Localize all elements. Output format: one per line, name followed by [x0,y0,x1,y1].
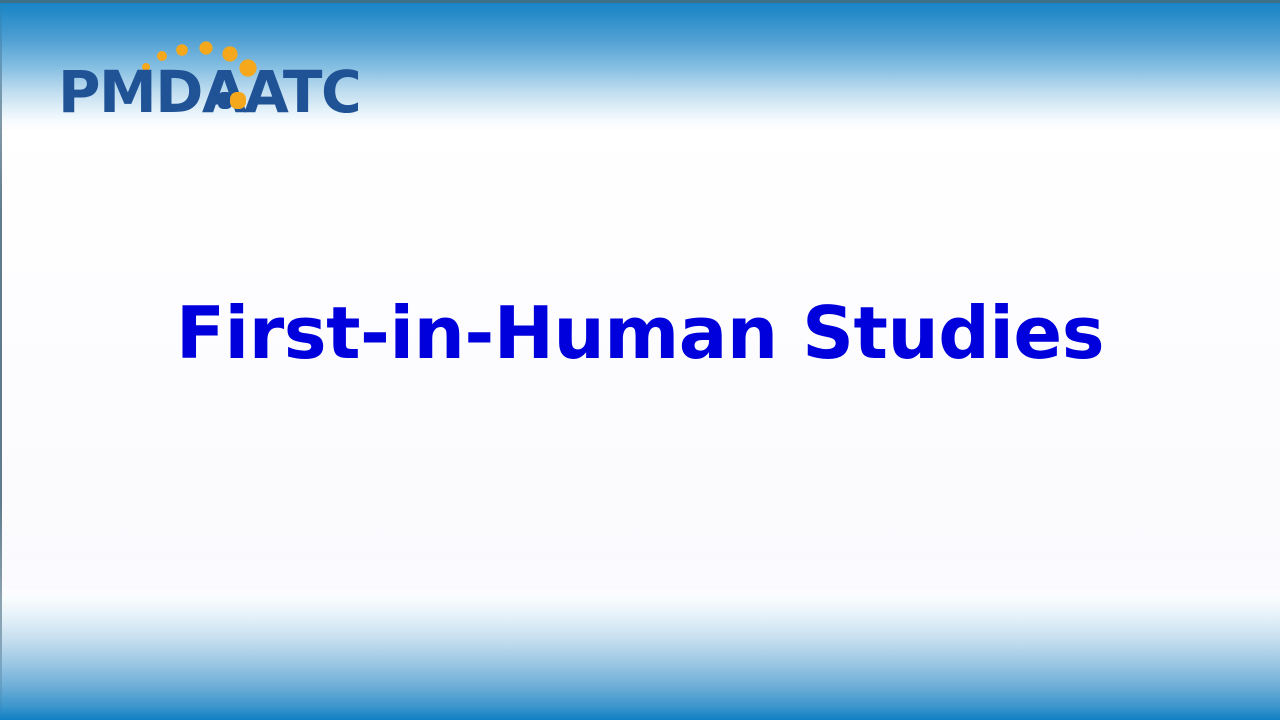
title-container: First-in-Human Studies [0,296,1280,372]
bottom-gradient-band [0,590,1280,720]
logo-text-pmda: PMDA [58,58,247,126]
slide: PMDA ATC First-in-Human Studies [0,0,1280,720]
slide-title: First-in-Human Studies [176,296,1104,372]
logo-text-atc: ATC [244,58,358,126]
pmda-atc-logo: PMDA ATC [58,34,358,134]
logo-capsule-icon [218,92,246,109]
top-edge-line [0,0,1280,3]
